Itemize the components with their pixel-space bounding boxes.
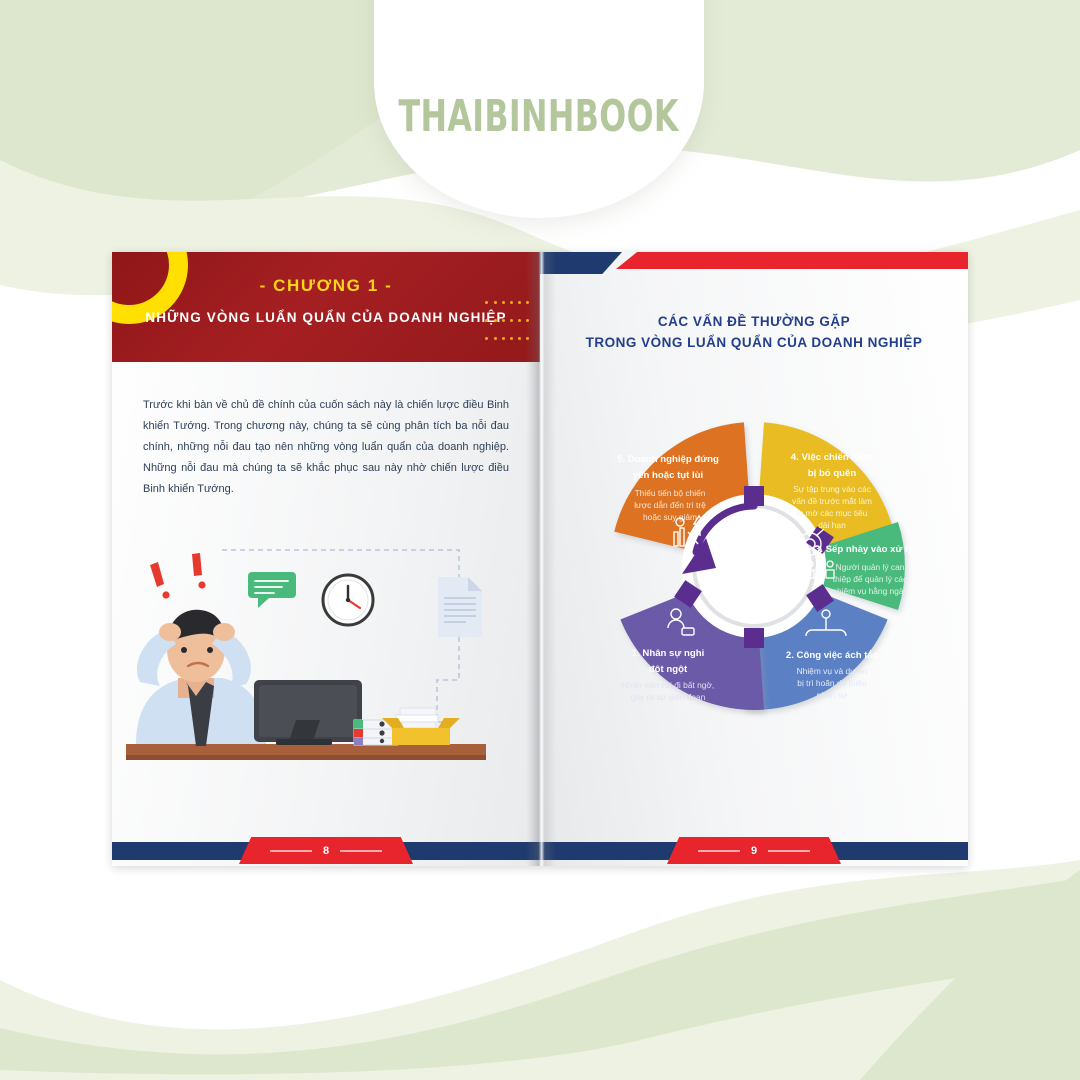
dot-grid-decoration — [483, 294, 532, 348]
page-number-left: 8 — [323, 845, 329, 857]
segment-1-desc-line2: gây ra sự gián đoạn — [631, 692, 706, 702]
footer-line-left — [270, 850, 312, 852]
segment-3-desc-line1: Người quản lý can — [836, 562, 905, 572]
stressed-businessman-illustration — [126, 532, 540, 782]
screenshot-root: THAIBINHBOOK - CHƯƠNG 1 - NHỮNG VÒNG LUẨ… — [0, 0, 1080, 1080]
segment-5-desc-line3: hoặc suy giảm — [643, 512, 697, 522]
segment-5-desc-line1: Thiếu tiến bộ chiến — [635, 488, 706, 498]
band-red-shape — [616, 252, 968, 269]
footer-ribbon-right: 9 — [667, 837, 841, 864]
page-title-line2: TRONG VÒNG LUẨN QUẨN CỦA DOANH NGHIỆP — [540, 333, 968, 354]
segment-2-desc-line1: Nhiệm vụ và dự án — [797, 666, 868, 676]
cycle-wheel-diagram: 5. Doanh nghiệp đứng yên hoặc tụt lùi Th… — [564, 356, 944, 776]
footer-ribbon-left: 8 — [239, 837, 413, 864]
footer-line-right-2 — [768, 850, 810, 852]
footer-left: 8 — [112, 832, 540, 866]
segment-4-desc-line3: lu mờ các mục tiêu — [797, 508, 868, 518]
chapter-title: NHỮNG VÒNG LUẨN QUẨN CỦA DOANH NGHIỆP — [112, 310, 540, 325]
band-navy-shape — [540, 252, 622, 274]
page-top-band — [540, 252, 968, 274]
page-title: CÁC VẤN ĐỀ THƯỜNG GẶP TRONG VÒNG LUẨN QU… — [540, 312, 968, 354]
segment-2-desc-line3: nhân sự — [817, 690, 848, 700]
footer-line-left-2 — [698, 850, 740, 852]
segment-4-desc-line2: vấn đề trước mắt làm — [792, 496, 872, 506]
page-title-line1: CÁC VẤN ĐỀ THƯỜNG GẶP — [540, 312, 968, 333]
chapter-body-text: Trước khi bàn về chủ đề chính của cuốn s… — [143, 395, 509, 501]
segment-5-title-line2: yên hoặc tụt lùi — [633, 470, 703, 481]
segment-4-desc-line1: Sự tập trung vào các — [793, 484, 871, 494]
page-right: CÁC VẤN ĐỀ THƯỜNG GẶP TRONG VÒNG LUẨN QU… — [540, 252, 968, 866]
chapter-label: - CHƯƠNG 1 - — [112, 276, 540, 296]
segment-3-desc-line3: nhiệm vụ hằng ngày — [832, 586, 908, 596]
segment-1-title-line2: đột ngột — [649, 664, 688, 675]
segment-2-title-line1: 2. Công việc ách tắc — [786, 649, 879, 661]
segment-2-desc-line2: bị trì hoãn do thiếu — [797, 678, 867, 688]
segment-4-title-line1: 4. Việc chiến lược — [791, 452, 874, 463]
brand-logo-text: THAIBINHBOOK — [399, 91, 679, 142]
book-spread: - CHƯƠNG 1 - NHỮNG VÒNG LUẨN QUẨN CỦA DO… — [112, 252, 968, 866]
segment-1-title-line1: 1. Nhân sự nghỉ — [632, 648, 705, 659]
segment-1-desc-line1: Nhân viên rời đi bất ngờ, — [622, 680, 714, 690]
segment-3-desc-line2: thiệp để quản lý các — [833, 574, 908, 584]
chapter-header: - CHƯƠNG 1 - NHỮNG VÒNG LUẨN QUẨN CỦA DO… — [112, 252, 540, 362]
page-number-right: 9 — [751, 845, 757, 857]
segment-4-title-line2: bị bỏ quên — [808, 468, 857, 479]
segment-3-title-line1: 3. Sếp nhảy vào xử lý — [815, 544, 914, 555]
page-left: - CHƯƠNG 1 - NHỮNG VÒNG LUẨN QUẨN CỦA DO… — [112, 252, 540, 866]
segment-5-desc-line2: lược dẫn đến trì trệ — [634, 500, 706, 510]
segment-4-desc-line4: dài hạn — [818, 520, 846, 530]
segment-5-title-line1: 5. Doanh nghiệp đứng — [617, 454, 719, 465]
footer-line-right — [340, 850, 382, 852]
footer-right: 9 — [540, 832, 968, 866]
